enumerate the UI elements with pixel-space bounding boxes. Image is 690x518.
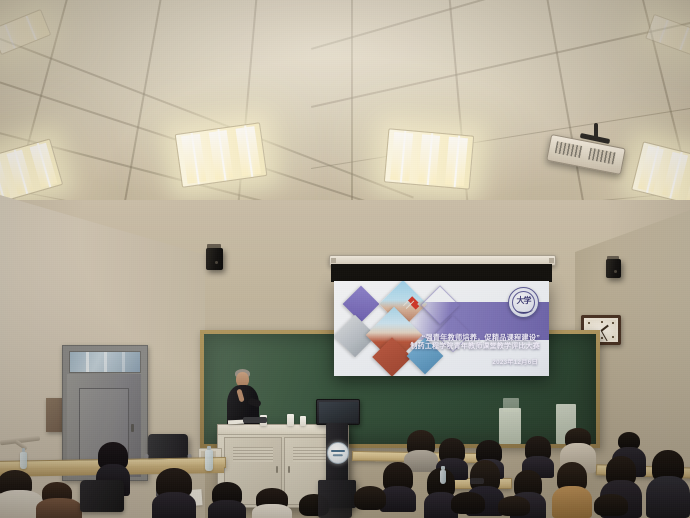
board-reflection [503,398,519,412]
student [36,482,82,518]
phone [470,478,484,484]
slide-subtitle: 制药工程学院青年教师课堂教学评比大赛 [410,343,540,352]
student [152,468,196,518]
university-seal-icon: 大学 [508,287,539,318]
wall-speaker-right [606,259,621,278]
podium-monitor[interactable] [316,399,360,425]
cup [300,416,306,426]
slide-date: 2023年12月6日 [492,359,538,367]
remote-device [243,417,267,423]
water-bottle [440,470,446,484]
student [208,482,246,518]
cup [287,414,294,426]
paper [228,420,244,425]
backpack [80,480,124,512]
door-transom-window [69,351,141,373]
slide-diamond [343,286,380,323]
student [252,488,292,518]
student [494,496,534,518]
projection-screen: 大学 “强青年教师培养，促精品课程建设” 制药工程学院青年教师课堂教学评比大赛 … [334,281,549,376]
student [446,492,490,518]
student [350,486,390,518]
podium-emblem-icon [327,442,349,464]
lecture-hall-photo: 大学 “强青年教师培养，促精品课程建设” 制药工程学院青年教师课堂教学评比大赛 … [0,0,690,518]
water-bottle [20,452,27,469]
slide-title: “强青年教师培养，促精品课程建设” [422,333,540,342]
bag [318,492,352,518]
projection-screen-border [331,264,552,282]
wall-speaker-left [206,248,223,270]
student [552,462,592,518]
presentation-slide: 大学 “强青年教师培养，促精品课程建设” 制药工程学院青年教师课堂教学评比大赛 … [334,281,549,376]
seal-mark: 大学 [517,297,531,305]
student [646,450,690,518]
board-reflection [499,408,521,444]
ceiling-light-panel [384,128,474,189]
student [588,494,634,518]
water-bottle [205,450,213,471]
